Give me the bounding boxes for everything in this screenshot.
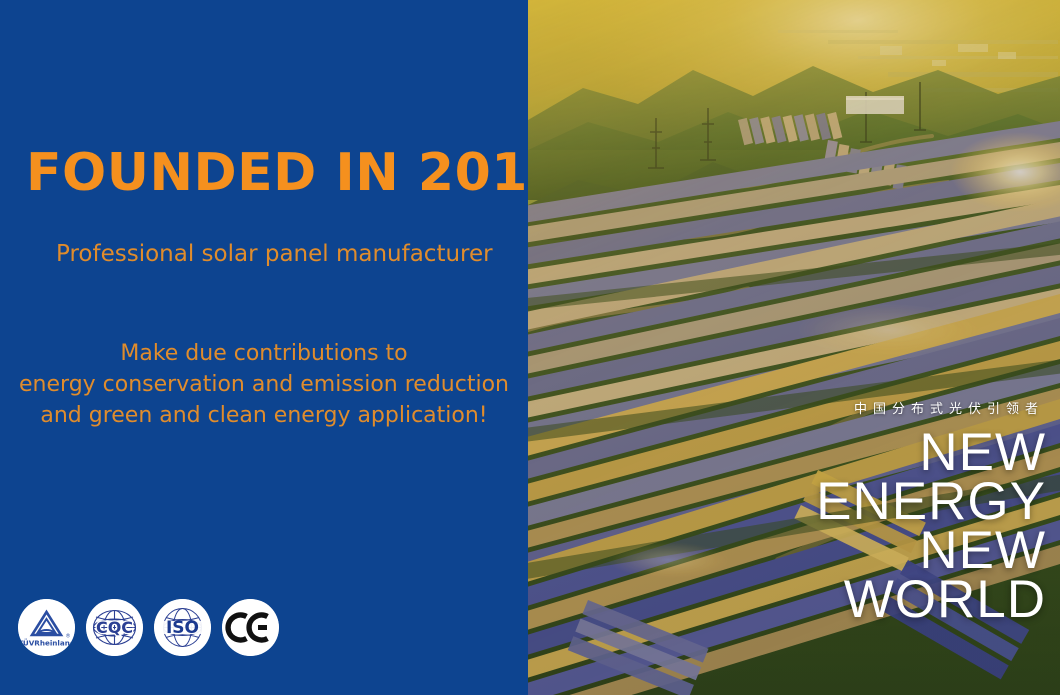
body-copy: Make due contributions to energy conserv… [0, 338, 528, 431]
tagline-line: WORLD [816, 575, 1046, 624]
svg-text:TÜVRheinland: TÜVRheinland [18, 639, 75, 648]
svg-text:ISO: ISO [166, 618, 199, 638]
ce-badge [222, 599, 279, 656]
tuv-rheinland-badge: TÜVRheinland ® [18, 599, 75, 656]
english-tagline: NEW ENERGY NEW WORLD [816, 428, 1046, 624]
body-line: Make due contributions to [0, 338, 528, 369]
body-line: and green and clean energy application! [0, 400, 528, 431]
svg-text:®: ® [66, 633, 71, 640]
tagline-line: ENERGY [816, 477, 1046, 526]
iso-badge: ISO [154, 599, 211, 656]
cqc-badge: CQC [86, 599, 143, 656]
body-line: energy conservation and emission reducti… [0, 369, 528, 400]
tagline-line: NEW [816, 428, 1046, 477]
left-text-panel: FOUNDED IN 2017 Professional solar panel… [0, 0, 528, 695]
tagline-line: NEW [816, 526, 1046, 575]
solar-farm-photo: 中国分布式光伏引领者 NEW ENERGY NEW WORLD [528, 0, 1060, 695]
promotional-banner: FOUNDED IN 2017 Professional solar panel… [0, 0, 1060, 695]
page-title: FOUNDED IN 2017 [26, 147, 526, 199]
svg-text:CQC: CQC [96, 618, 133, 637]
certification-badge-row: TÜVRheinland ® C [18, 599, 279, 656]
subtitle: Professional solar panel manufacturer [56, 241, 493, 269]
chinese-tagline: 中国分布式光伏引领者 [854, 398, 1044, 417]
